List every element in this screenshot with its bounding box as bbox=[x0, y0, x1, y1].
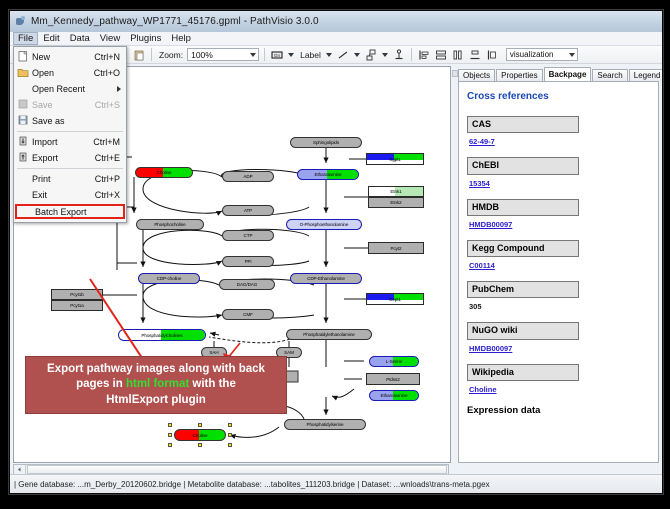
pathway-node-metabolite[interactable]: DAG/DAG bbox=[219, 279, 275, 290]
menu-item-save-as[interactable]: Save as bbox=[14, 113, 126, 129]
blank-icon bbox=[19, 205, 35, 219]
menu-item-open-recent-label: Open Recent bbox=[32, 84, 126, 94]
menu-item-new[interactable]: New Ctrl+N bbox=[14, 49, 126, 65]
pathway-node-metabolite[interactable]: CTP bbox=[222, 230, 274, 241]
zoom-label: Zoom: bbox=[159, 50, 183, 60]
annotation-callout: Export pathway images along with back pa… bbox=[25, 356, 287, 414]
menu-separator bbox=[17, 131, 123, 132]
pathway-node-gene[interactable]: Pcyt1b bbox=[51, 289, 103, 300]
pathway-node-label: Choline bbox=[157, 170, 172, 175]
menu-item-open-label: Open bbox=[32, 68, 94, 78]
annotation-line3: HtmlExport plugin bbox=[106, 394, 206, 406]
pathway-node-label: Pcyt1b bbox=[70, 292, 83, 297]
pathway-node-metabolite[interactable]: Phosphocholine bbox=[136, 219, 204, 230]
menu-edit[interactable]: Edit bbox=[38, 32, 64, 45]
pathway-node-metabolite[interactable]: Sphingolipids bbox=[290, 137, 362, 148]
pathway-node-label: Etnk2 bbox=[390, 200, 401, 205]
pathway-node-label: Sphingolipids bbox=[313, 140, 339, 145]
xref-db-nugo: NuGO wiki bbox=[467, 322, 579, 339]
file-menu-dropdown[interactable]: New Ctrl+N Open Ctrl+O Open Recent Save … bbox=[13, 46, 127, 223]
menu-item-save-as-label: Save as bbox=[32, 116, 120, 126]
menu-item-export-shortcut: Ctrl+E bbox=[95, 153, 126, 163]
pathway-node-label: Phosphatidylethanolamine bbox=[303, 332, 355, 337]
pathway-node-gene[interactable]: Cept1 bbox=[366, 293, 424, 305]
menu-help[interactable]: Help bbox=[166, 32, 196, 45]
title-bar: Mm_Kennedy_pathway_WP1771_45176.gpml - P… bbox=[10, 11, 662, 33]
pathway-node-label: Etnk1 bbox=[390, 189, 401, 194]
menu-item-open[interactable]: Open Ctrl+O bbox=[14, 65, 126, 81]
menu-item-import-label: Import bbox=[32, 137, 93, 147]
blank-icon bbox=[16, 82, 32, 96]
pathway-node-metabolite[interactable]: ADP bbox=[222, 171, 274, 182]
screenshot-root: Mm_Kennedy_pathway_WP1771_45176.gpml - P… bbox=[0, 0, 670, 509]
pathway-node-label: DAG/DAG bbox=[237, 282, 258, 287]
pathway-node-metabolite[interactable]: O-Phosphoethanolamine bbox=[286, 219, 362, 230]
pathway-node-label: CDP-Ethanolamine bbox=[307, 276, 345, 281]
pathway-node-label: Sgpl1 bbox=[389, 157, 400, 162]
annotation-text: Export pathway images along with back pa… bbox=[41, 362, 271, 409]
pathway-node-label: Ethanolamine bbox=[381, 393, 408, 398]
backpage-content: Cross references CAS 62-49-7 ChEBI 15354… bbox=[459, 82, 658, 420]
menu-item-print-shortcut: Ctrl+P bbox=[95, 174, 126, 184]
zoom-combo[interactable]: 100% bbox=[187, 48, 259, 61]
xref-db-kegg: Kegg Compound bbox=[467, 240, 579, 257]
pathway-node-label: CTP bbox=[244, 233, 253, 238]
xref-link-kegg[interactable]: C00114 bbox=[469, 261, 650, 270]
anchor-tool-icon[interactable] bbox=[392, 48, 406, 62]
pathway-node-label: O-Phosphoethanolamine bbox=[300, 222, 349, 227]
pathway-node-metabolite[interactable]: Choline bbox=[135, 167, 193, 178]
pathway-node-metabolite[interactable]: Phosphatidylethanolamine bbox=[286, 329, 372, 340]
pathway-node-metabolite[interactable]: Ethanolamine bbox=[297, 169, 359, 180]
pathway-node-label: Phosphocholine bbox=[154, 222, 185, 227]
annotation-line2-a: pages in bbox=[76, 378, 126, 390]
menu-item-open-recent[interactable]: Open Recent bbox=[14, 81, 126, 97]
menu-item-save-label: Save bbox=[32, 100, 95, 110]
pathway-node-label: Cept1 bbox=[389, 297, 401, 302]
menu-bar: File Edit Data View Plugins Help bbox=[10, 32, 662, 46]
pathway-node-gene[interactable]: Pcyt1a bbox=[51, 300, 103, 311]
xref-link-wikipedia[interactable]: Choline bbox=[469, 385, 650, 394]
pathway-node-label: CMF bbox=[243, 312, 253, 317]
pathway-node-label: Ethanolamine bbox=[315, 172, 342, 177]
menu-view[interactable]: View bbox=[95, 32, 125, 45]
menu-item-exit[interactable]: Exit Ctrl+X bbox=[14, 187, 126, 203]
new-document-icon bbox=[16, 50, 32, 64]
xref-db-cas: CAS bbox=[467, 116, 579, 133]
pathway-node-label: L-Serine bbox=[386, 359, 403, 364]
xref-link-cas[interactable]: 62-49-7 bbox=[469, 137, 650, 146]
visualization-combo[interactable]: visualization bbox=[506, 48, 578, 61]
align-left-icon[interactable] bbox=[417, 48, 431, 62]
pathway-node-metabolite[interactable]: ATP bbox=[222, 205, 274, 216]
menu-item-exit-label: Exit bbox=[32, 190, 95, 200]
export-icon bbox=[16, 151, 32, 165]
pathway-node-label: SAH bbox=[209, 350, 218, 355]
pathvisio-icon bbox=[15, 16, 26, 27]
align-center-icon[interactable] bbox=[434, 48, 448, 62]
group-icon[interactable] bbox=[485, 48, 499, 62]
submenu-arrow-icon bbox=[117, 86, 121, 92]
scroll-left-arrow-icon[interactable] bbox=[14, 465, 26, 474]
xref-db-hmdb: HMDB bbox=[467, 199, 579, 216]
menu-item-exit-shortcut: Ctrl+X bbox=[95, 190, 126, 200]
panel-splitter[interactable] bbox=[451, 66, 457, 463]
status-text: | Gene database: ...m_Derby_20120602.bri… bbox=[10, 480, 490, 489]
toolbar-separator bbox=[411, 48, 412, 61]
pathway-node-gene[interactable]: Pcyt2 bbox=[368, 242, 424, 254]
xref-link-nugo[interactable]: HMDB00097 bbox=[469, 344, 650, 353]
menu-file[interactable]: File bbox=[13, 32, 38, 45]
expression-data-title: Expression data bbox=[467, 405, 650, 416]
pathway-node-label: ADP bbox=[243, 174, 252, 179]
pathway-node-label: PPi bbox=[245, 259, 252, 264]
cross-references-title: Cross references bbox=[467, 91, 650, 102]
pathway-node-metabolite[interactable]: L-Serine bbox=[369, 356, 419, 367]
menu-plugins[interactable]: Plugins bbox=[125, 32, 166, 45]
chevron-down-icon[interactable] bbox=[326, 53, 332, 57]
align-middle-icon[interactable] bbox=[451, 48, 465, 62]
annotation-line2-b: with the bbox=[189, 378, 236, 390]
pathway-node-metabolite[interactable]: CDP-choline bbox=[138, 273, 200, 284]
menu-item-import-shortcut: Ctrl+M bbox=[93, 137, 126, 147]
visualization-value: visualization bbox=[510, 50, 554, 59]
pathway-node-label: CDP-choline bbox=[157, 276, 182, 281]
pathway-node-metabolite[interactable]: Phosphatidylserine bbox=[284, 419, 366, 430]
menu-item-export-label: Export bbox=[32, 153, 95, 163]
tab-backpage[interactable]: Backpage bbox=[544, 67, 592, 82]
menu-item-save-shortcut: Ctrl+S bbox=[95, 100, 126, 110]
xref-db-chebi: ChEBI bbox=[467, 157, 579, 174]
xref-db-wikipedia: Wikipedia bbox=[467, 364, 579, 381]
pathway-node-label: Phosphatidylcholines bbox=[141, 333, 182, 338]
pathway-node-label: ATP bbox=[244, 208, 252, 213]
stack-icon[interactable] bbox=[468, 48, 482, 62]
toolbar-separator bbox=[151, 48, 152, 61]
xref-link-hmdb[interactable]: HMDB00097 bbox=[469, 220, 650, 229]
pathway-node-label: Ptdss2 bbox=[386, 377, 399, 382]
menu-item-batch-export[interactable]: Batch Export bbox=[15, 204, 125, 219]
annotation-highlight: html format bbox=[126, 378, 189, 390]
label-tool-label: Label bbox=[300, 50, 321, 60]
pathway-node-metabolite[interactable]: PPi bbox=[222, 256, 274, 267]
pathway-node-label: Choline bbox=[193, 433, 208, 438]
datanode-icon[interactable]: Gn bbox=[270, 48, 284, 62]
pathway-node-label: Pcyt1a bbox=[70, 303, 83, 308]
chevron-down-icon bbox=[569, 53, 575, 57]
status-bar: | Gene database: ...m_Derby_20120602.bri… bbox=[10, 474, 662, 493]
pathway-node-gene[interactable]: Sgpl1 bbox=[366, 153, 424, 165]
pathway-node-metabolite[interactable]: CMF bbox=[222, 309, 274, 320]
xref-db-pubchem: PubChem bbox=[467, 281, 579, 298]
annotation-line1: Export pathway images along with back bbox=[47, 363, 265, 375]
sidebar-tabstrip: Objects Properties Backpage Search Legen… bbox=[458, 68, 659, 82]
menu-item-save: Save Ctrl+S bbox=[14, 97, 126, 113]
save-disk-icon bbox=[16, 98, 32, 112]
line-tool-icon[interactable] bbox=[336, 48, 350, 62]
chevron-down-icon[interactable] bbox=[382, 53, 388, 57]
toolbar-separator bbox=[264, 48, 265, 61]
menu-item-new-shortcut: Ctrl+N bbox=[94, 52, 126, 62]
chevron-down-icon bbox=[250, 53, 256, 57]
menu-data[interactable]: Data bbox=[65, 32, 95, 45]
menu-item-batch-export-label: Batch Export bbox=[35, 207, 123, 217]
menu-item-new-label: New bbox=[32, 52, 94, 62]
pathway-node-gene[interactable]: Etnk1 bbox=[368, 186, 424, 197]
pathway-node-metabolite[interactable]: Ethanolamine bbox=[369, 390, 419, 401]
xref-link-chebi[interactable]: 15354 bbox=[469, 179, 650, 188]
shape-tool-icon[interactable] bbox=[364, 48, 378, 62]
pathway-node-label: SAM bbox=[284, 350, 294, 355]
menu-item-open-shortcut: Ctrl+O bbox=[94, 68, 126, 78]
blank-icon bbox=[16, 172, 32, 186]
import-icon bbox=[16, 135, 32, 149]
menu-separator bbox=[17, 168, 123, 169]
open-folder-icon bbox=[16, 66, 32, 80]
menu-item-export[interactable]: Export Ctrl+E bbox=[14, 150, 126, 166]
xref-value-pubchem: 305 bbox=[469, 302, 650, 311]
menu-item-print-label: Print bbox=[32, 174, 95, 184]
menu-item-import[interactable]: Import Ctrl+M bbox=[14, 134, 126, 150]
pathway-node-metabolite[interactable]: Phosphatidylcholines bbox=[118, 329, 206, 341]
hscroll-thumb[interactable] bbox=[27, 465, 447, 474]
save-as-disk-icon bbox=[16, 114, 32, 128]
sidebar: Objects Properties Backpage Search Legen… bbox=[458, 66, 659, 463]
svg-text:Gn: Gn bbox=[274, 53, 281, 58]
window-title: Mm_Kennedy_pathway_WP1771_45176.gpml - P… bbox=[31, 16, 319, 27]
zoom-value: 100% bbox=[191, 50, 213, 60]
pathway-node-label: Pcyt2 bbox=[391, 246, 402, 251]
chevron-down-icon[interactable] bbox=[354, 53, 360, 57]
pathway-node-label: Phosphatidylserine bbox=[306, 422, 343, 427]
pathway-node-metabolite[interactable]: CDP-Ethanolamine bbox=[290, 273, 362, 284]
menu-item-print[interactable]: Print Ctrl+P bbox=[14, 171, 126, 187]
pathvisio-window: Mm_Kennedy_pathway_WP1771_45176.gpml - P… bbox=[9, 10, 663, 494]
blank-icon bbox=[16, 188, 32, 202]
pathway-node-gene[interactable]: Ptdss2 bbox=[366, 373, 420, 385]
chevron-down-icon[interactable] bbox=[288, 53, 294, 57]
backpage-panel: Cross references CAS 62-49-7 ChEBI 15354… bbox=[458, 81, 659, 463]
paste-icon[interactable] bbox=[132, 48, 146, 62]
pathway-node-gene[interactable]: Etnk2 bbox=[368, 197, 424, 208]
